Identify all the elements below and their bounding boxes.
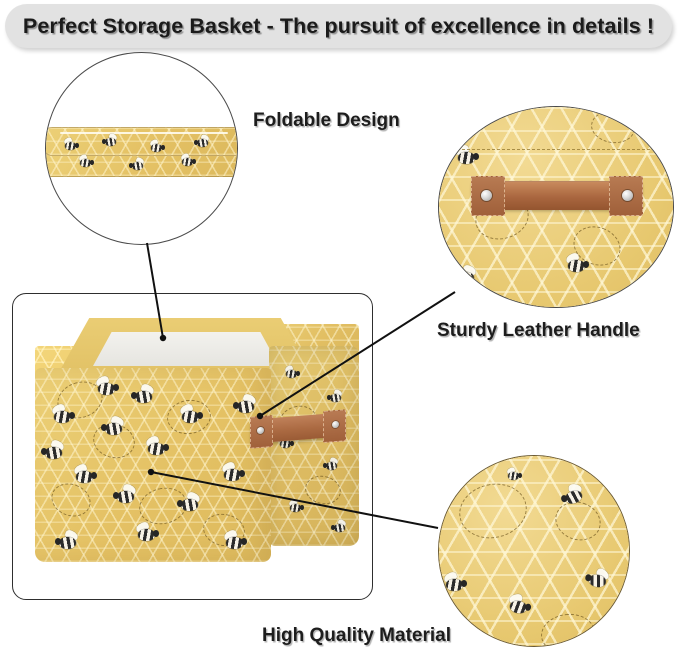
product-infographic: Perfect Storage Basket - The pursuit of … — [0, 0, 679, 657]
dashed-flight-path-icon — [302, 473, 343, 508]
bee-icon — [55, 534, 81, 551]
dashed-flight-path-icon — [589, 108, 637, 146]
material-closeup-inset — [438, 455, 630, 647]
bee-icon — [143, 440, 169, 457]
handle-rivet — [622, 190, 633, 201]
bee-icon — [93, 380, 119, 397]
bee-icon — [131, 388, 157, 405]
bee-icon — [221, 534, 247, 551]
product-leather-handle — [251, 412, 345, 443]
bee-icon — [194, 137, 211, 148]
product-image-frame — [12, 293, 373, 600]
bee-icon — [102, 136, 119, 147]
bee-icon — [113, 488, 139, 505]
dashed-flight-path-icon — [454, 478, 532, 545]
bee-icon — [504, 596, 533, 617]
basket-side-panel — [269, 346, 359, 546]
basket-front-panel — [35, 368, 271, 562]
basket-lining — [93, 332, 279, 366]
callout-label-foldable: Foldable Design — [253, 110, 400, 132]
bee-icon — [505, 470, 522, 481]
bee-icon — [584, 570, 613, 591]
foldable-design-inset — [45, 52, 238, 245]
banner-title: Perfect Storage Basket - The pursuit of … — [5, 4, 672, 48]
storage-basket-image — [23, 310, 363, 582]
bee-icon — [219, 466, 245, 483]
bee-icon — [563, 257, 589, 274]
bee-icon — [177, 408, 203, 425]
bee-icon — [77, 157, 94, 168]
bee-icon — [71, 468, 97, 485]
bee-icon — [441, 576, 467, 593]
bee-icon — [133, 526, 159, 543]
bee-icon — [637, 289, 663, 306]
bee-icon — [331, 522, 348, 533]
bee-icon — [177, 496, 203, 513]
bee-icon — [179, 156, 196, 167]
folded-basket-image — [45, 127, 238, 177]
leather-handle — [472, 181, 642, 209]
callout-label-material: High Quality Material — [262, 625, 451, 647]
dashed-flight-path-icon — [539, 611, 597, 647]
bee-icon — [233, 398, 259, 415]
folded-layer-top — [45, 127, 238, 156]
bee-icon — [323, 460, 340, 471]
bee-icon — [62, 140, 79, 151]
bee-icon — [41, 444, 67, 461]
bee-icon — [129, 160, 146, 171]
callout-label-handle: Sturdy Leather Handle — [437, 320, 640, 342]
handle-strap — [495, 181, 619, 210]
header-banner: Perfect Storage Basket - The pursuit of … — [5, 4, 672, 48]
bee-icon — [287, 502, 304, 513]
fabric-swatch — [438, 455, 630, 647]
bee-icon — [49, 408, 75, 425]
handle-rivet — [481, 190, 492, 201]
bee-icon — [453, 269, 479, 286]
leather-handle-inset — [438, 106, 674, 308]
bee-icon — [283, 368, 300, 379]
basket-top-stitching — [447, 149, 665, 157]
bee-icon — [148, 142, 165, 153]
bee-icon — [101, 420, 127, 437]
bee-icon — [327, 392, 344, 403]
